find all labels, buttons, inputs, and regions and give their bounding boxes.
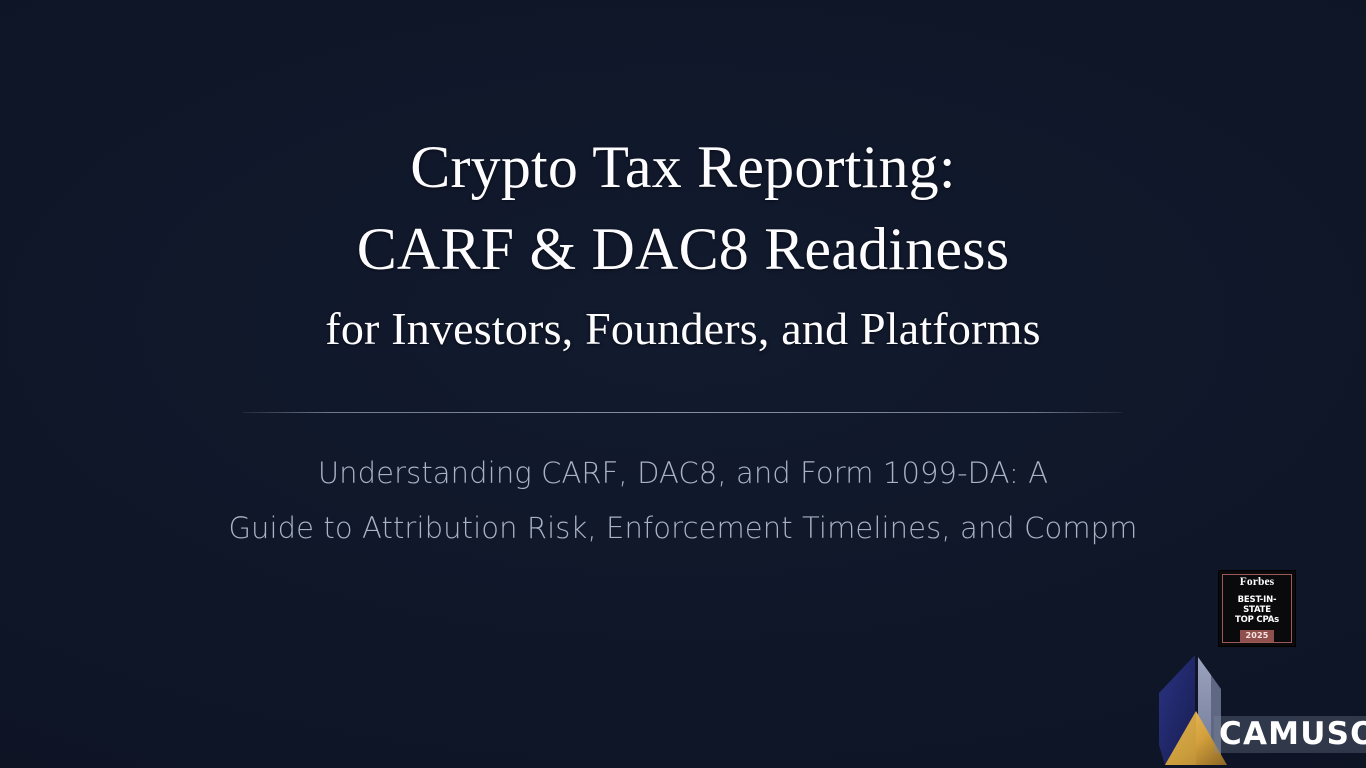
forbes-brand-label: Forbes (1240, 576, 1274, 589)
subtitle-line-2: Guide to Attribution Risk, Enforcement T… (0, 501, 1366, 556)
title-divider (243, 412, 1122, 413)
title-line-2: CARF & DAC8 Readiness (0, 206, 1366, 292)
title-line-3: for Investors, Founders, and Platforms (0, 292, 1366, 366)
presentation-slide: Crypto Tax Reporting: CARF & DAC8 Readin… (0, 0, 1366, 768)
forbes-badge-inner: Forbes BEST-IN-STATE TOP CPAs 2025 (1222, 574, 1292, 643)
subtitle-block: Understanding CARF, DAC8, and Form 1099-… (0, 446, 1366, 556)
camuso-wordmark: CAMUSO CPA (1214, 713, 1366, 755)
title-block: Crypto Tax Reporting: CARF & DAC8 Readin… (0, 128, 1366, 366)
forbes-award-year: 2025 (1240, 630, 1273, 642)
logo-name-text: CAMUSO (1214, 716, 1366, 753)
forbes-award-badge: Forbes BEST-IN-STATE TOP CPAs 2025 (1218, 570, 1296, 647)
camuso-cpa-logo: CAMUSO CPA (1155, 653, 1360, 765)
subtitle-line-1: Understanding CARF, DAC8, and Form 1099-… (0, 446, 1366, 501)
forbes-award-line-2: TOP CPAs (1235, 615, 1279, 626)
forbes-award-line-1: BEST-IN-STATE (1225, 595, 1289, 615)
title-line-1: Crypto Tax Reporting: (0, 128, 1366, 206)
